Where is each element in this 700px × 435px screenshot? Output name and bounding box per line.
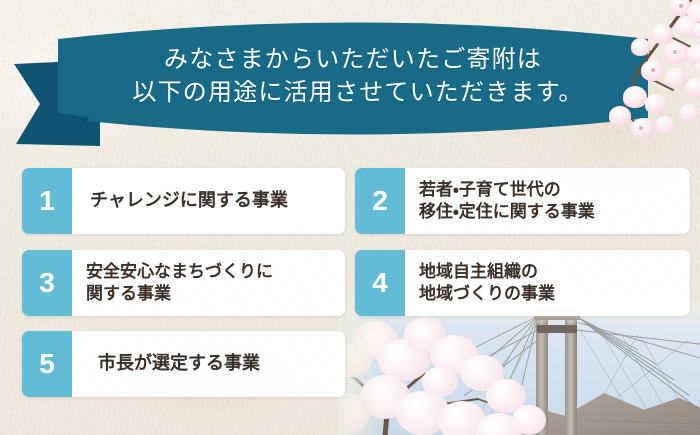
list-item[interactable]: 3 安全安心なまちづくりに 関する事業	[22, 250, 345, 316]
item-label: チャレンジに関する事業	[72, 168, 345, 234]
item-label: 地域自主組織の 地域づくりの事業	[405, 250, 690, 316]
item-number-badge: 3	[22, 250, 72, 316]
item-label-line: 地域自主組織の	[419, 261, 538, 283]
item-label: 若者・子育て世代の 移住・定住に関する事業	[405, 168, 690, 234]
item-label-line: チャレンジに関する事業	[90, 189, 288, 213]
poster-canvas: みなさまからいただいたご寄附は 以下の用途に活用させていただきます。	[0, 0, 700, 435]
item-label-line: 地域づくりの事業	[419, 283, 555, 305]
item-number-badge: 2	[355, 168, 405, 234]
item-label: 市長が選定する事業	[72, 331, 345, 397]
item-label-line: 関する事業	[86, 283, 171, 305]
list-item[interactable]: 5 市長が選定する事業	[22, 331, 345, 397]
item-label-line: 若者・子育て世代の	[419, 179, 561, 201]
item-label-line: 安全安心なまちづくりに	[86, 261, 273, 283]
item-number-badge: 4	[355, 250, 405, 316]
list-item[interactable]: 2 若者・子育て世代の 移住・定住に関する事業	[355, 168, 690, 234]
item-label-line: 移住・定住に関する事業	[419, 201, 595, 223]
item-label: 安全安心なまちづくりに 関する事業	[72, 250, 345, 316]
purpose-list: 1 チャレンジに関する事業 2 若者・子育て世代の 移住・定住に関する事業 3 …	[0, 0, 700, 435]
item-number-badge: 5	[22, 331, 72, 397]
item-number-badge: 1	[22, 168, 72, 234]
list-item[interactable]: 1 チャレンジに関する事業	[22, 168, 345, 234]
item-label-line: 市長が選定する事業	[98, 352, 260, 376]
list-item[interactable]: 4 地域自主組織の 地域づくりの事業	[355, 250, 690, 316]
